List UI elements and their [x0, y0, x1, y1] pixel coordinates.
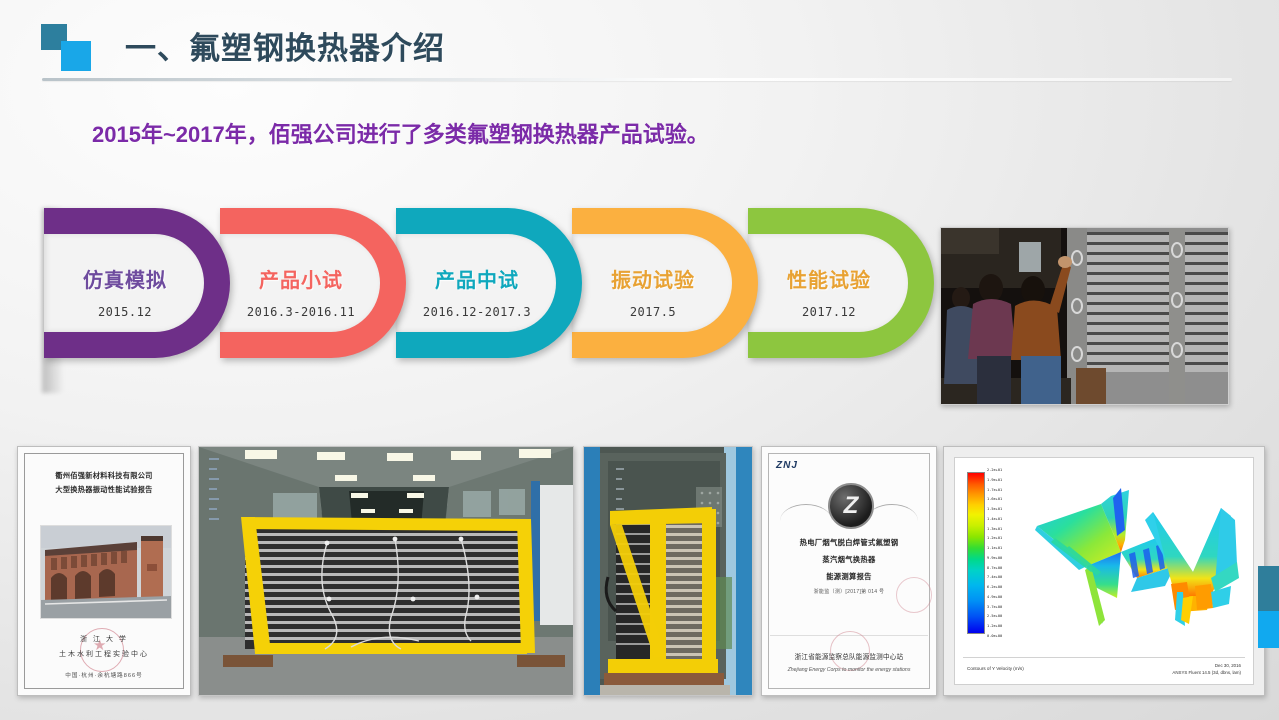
report-a-line2: 大型换热器振动性能试验报告 — [26, 483, 182, 497]
report-a-address: 中国·杭州·余杭塘路866号 — [18, 671, 190, 679]
subtitle: 2015年~2017年，佰强公司进行了多类氟塑钢换热器产品试验。 — [92, 117, 709, 149]
process-step-5-label: 性能试验 — [754, 264, 904, 293]
report-cover-znj: ZNJ Z 热电厂烟气脱白焊管式氟塑钢 蒸汽烟气换热器 能源测算报告 浙能监（测… — [761, 446, 937, 696]
cfd-contour-plot: 2.2e+01 1.9e+01 1.7e+01 1.6e+01 1.5e+01 … — [943, 446, 1265, 696]
report-d-brand: ZNJ — [776, 460, 798, 471]
report-a-photo — [40, 525, 172, 619]
slide: 一、氟塑钢换热器介绍 2015年~2017年，佰强公司进行了多类氟塑钢换热器产品… — [0, 0, 1279, 720]
report-d-footer-en: Zhejiang Energy Corps to monitor the ene… — [762, 667, 936, 673]
header-square-blue-icon — [61, 41, 91, 71]
report-a-line1: 衢州佰强新材料科技有限公司 — [26, 469, 182, 483]
report-a-org2: 土木水利工程实验中心 — [18, 648, 190, 663]
report-d-footer-cn: 浙江省能源监察总队能源监测中心站 — [762, 651, 936, 661]
cfd-caption-date: Dec 30, 2016 — [1172, 662, 1241, 669]
edge-decoration-dark — [1258, 566, 1279, 616]
process-step-1[interactable]: 仿真模拟 2015.12 — [50, 264, 200, 319]
process-step-5[interactable]: 性能试验 2017.12 — [754, 264, 904, 319]
photo-inspection — [940, 227, 1229, 405]
process-step-4-label: 振动试验 — [578, 264, 728, 293]
cfd-caption-left: Contours of Y Velocity (m/s) — [967, 666, 1024, 671]
cfd-caption-divider — [963, 657, 1245, 658]
report-d-logo-seal: Z — [828, 483, 874, 529]
process-chain: 仿真模拟 2015.12 产品小试 2016.3-2016.11 产品中试 20… — [42, 208, 922, 393]
process-step-4[interactable]: 振动试验 2017.5 — [578, 264, 728, 319]
photo-vibration-rig — [198, 446, 574, 696]
cfd-caption-right: Dec 30, 2016 ANSYS Fluent 14.5 (3d, dbns… — [1172, 662, 1241, 676]
cfd-plot-area: 2.2e+01 1.9e+01 1.7e+01 1.6e+01 1.5e+01 … — [954, 457, 1254, 685]
process-step-2-label: 产品小试 — [226, 264, 376, 293]
photo-vibration-chamber-image — [584, 447, 752, 695]
photo-inspection-image — [941, 228, 1228, 404]
cfd-colorbar-label: 2.2e+01 — [987, 468, 1031, 472]
header-divider — [42, 78, 1232, 81]
cfd-colorbar — [967, 472, 985, 634]
report-cover-zju: 衢州佰强新材料科技有限公司 大型换热器振动性能试验报告 — [17, 446, 191, 696]
process-step-5-date: 2017.12 — [754, 305, 904, 319]
cfd-caption-solver: ANSYS Fluent 14.5 (3d, dbns, lam) — [1172, 669, 1241, 676]
edge-decoration-blue — [1258, 611, 1279, 648]
process-step-3-date: 2016.12-2017.3 — [402, 305, 552, 319]
photo-vibration-chamber — [583, 446, 753, 696]
process-step-3[interactable]: 产品中试 2016.12-2017.3 — [402, 264, 552, 319]
process-step-2[interactable]: 产品小试 2016.3-2016.11 — [226, 264, 376, 319]
process-step-1-label: 仿真模拟 — [50, 264, 200, 293]
cfd-contour-surfaces — [1025, 474, 1251, 644]
report-d-line2: 蒸汽烟气换热器 — [762, 552, 936, 569]
report-d-side-seal — [896, 577, 932, 613]
report-a-org1: 浙 江 大 学 — [18, 633, 190, 648]
page-title: 一、氟塑钢换热器介绍 — [125, 23, 445, 68]
process-step-3-label: 产品中试 — [402, 264, 552, 293]
process-step-1-date: 2015.12 — [50, 305, 200, 319]
process-step-4-date: 2017.5 — [578, 305, 728, 319]
process-step-2-date: 2016.3-2016.11 — [226, 305, 376, 319]
report-d-line1: 热电厂烟气脱白焊管式氟塑钢 — [762, 535, 936, 552]
photo-vibration-rig-image — [199, 447, 573, 695]
